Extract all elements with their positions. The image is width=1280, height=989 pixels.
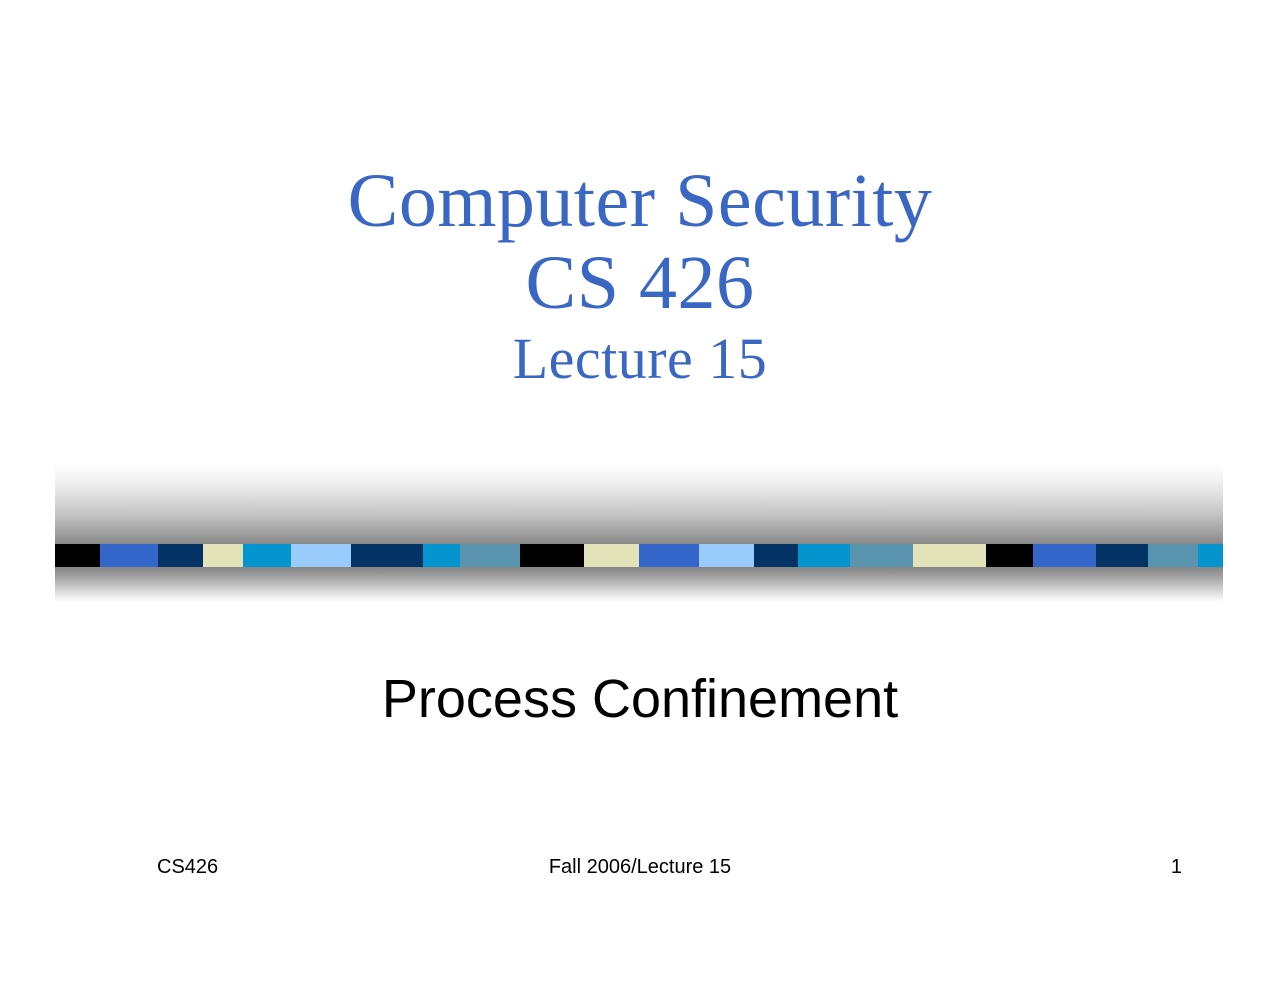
band-color-block <box>423 544 460 567</box>
band-color-strip <box>55 544 1223 567</box>
band-color-block <box>1033 544 1096 567</box>
slide-title-block: Computer Security CS 426 Lecture 15 <box>0 160 1280 395</box>
band-color-block <box>798 544 850 567</box>
slide-canvas: Computer Security CS 426 Lecture 15 Proc… <box>0 0 1280 989</box>
band-color-block <box>158 544 203 567</box>
band-color-block <box>55 544 100 567</box>
footer-term-lecture: Fall 2006/Lecture 15 <box>0 856 1280 879</box>
title-line-course-number: CS 426 <box>0 242 1280 324</box>
band-color-block <box>584 544 639 567</box>
band-color-block <box>460 544 520 567</box>
band-color-block <box>1096 544 1148 567</box>
title-line-lecture-number: Lecture 15 <box>0 324 1280 395</box>
slide-subtitle: Process Confinement <box>0 668 1280 730</box>
band-color-block <box>351 544 423 567</box>
decorative-divider-band <box>55 460 1223 602</box>
band-color-block <box>1198 544 1223 567</box>
band-color-block <box>203 544 243 567</box>
band-color-block <box>850 544 913 567</box>
band-color-block <box>639 544 699 567</box>
band-color-block <box>699 544 754 567</box>
band-color-block <box>754 544 798 567</box>
band-color-block <box>243 544 291 567</box>
band-color-block <box>913 544 986 567</box>
band-gradient-fill <box>55 460 1223 602</box>
title-line-course-name: Computer Security <box>0 160 1280 242</box>
band-color-block <box>1148 544 1198 567</box>
slide-footer: CS426 Fall 2006/Lecture 15 1 <box>0 856 1280 886</box>
band-color-block <box>520 544 584 567</box>
band-color-block <box>100 544 158 567</box>
footer-page-number: 1 <box>1171 856 1182 879</box>
band-color-block <box>291 544 351 567</box>
band-color-block <box>986 544 1033 567</box>
